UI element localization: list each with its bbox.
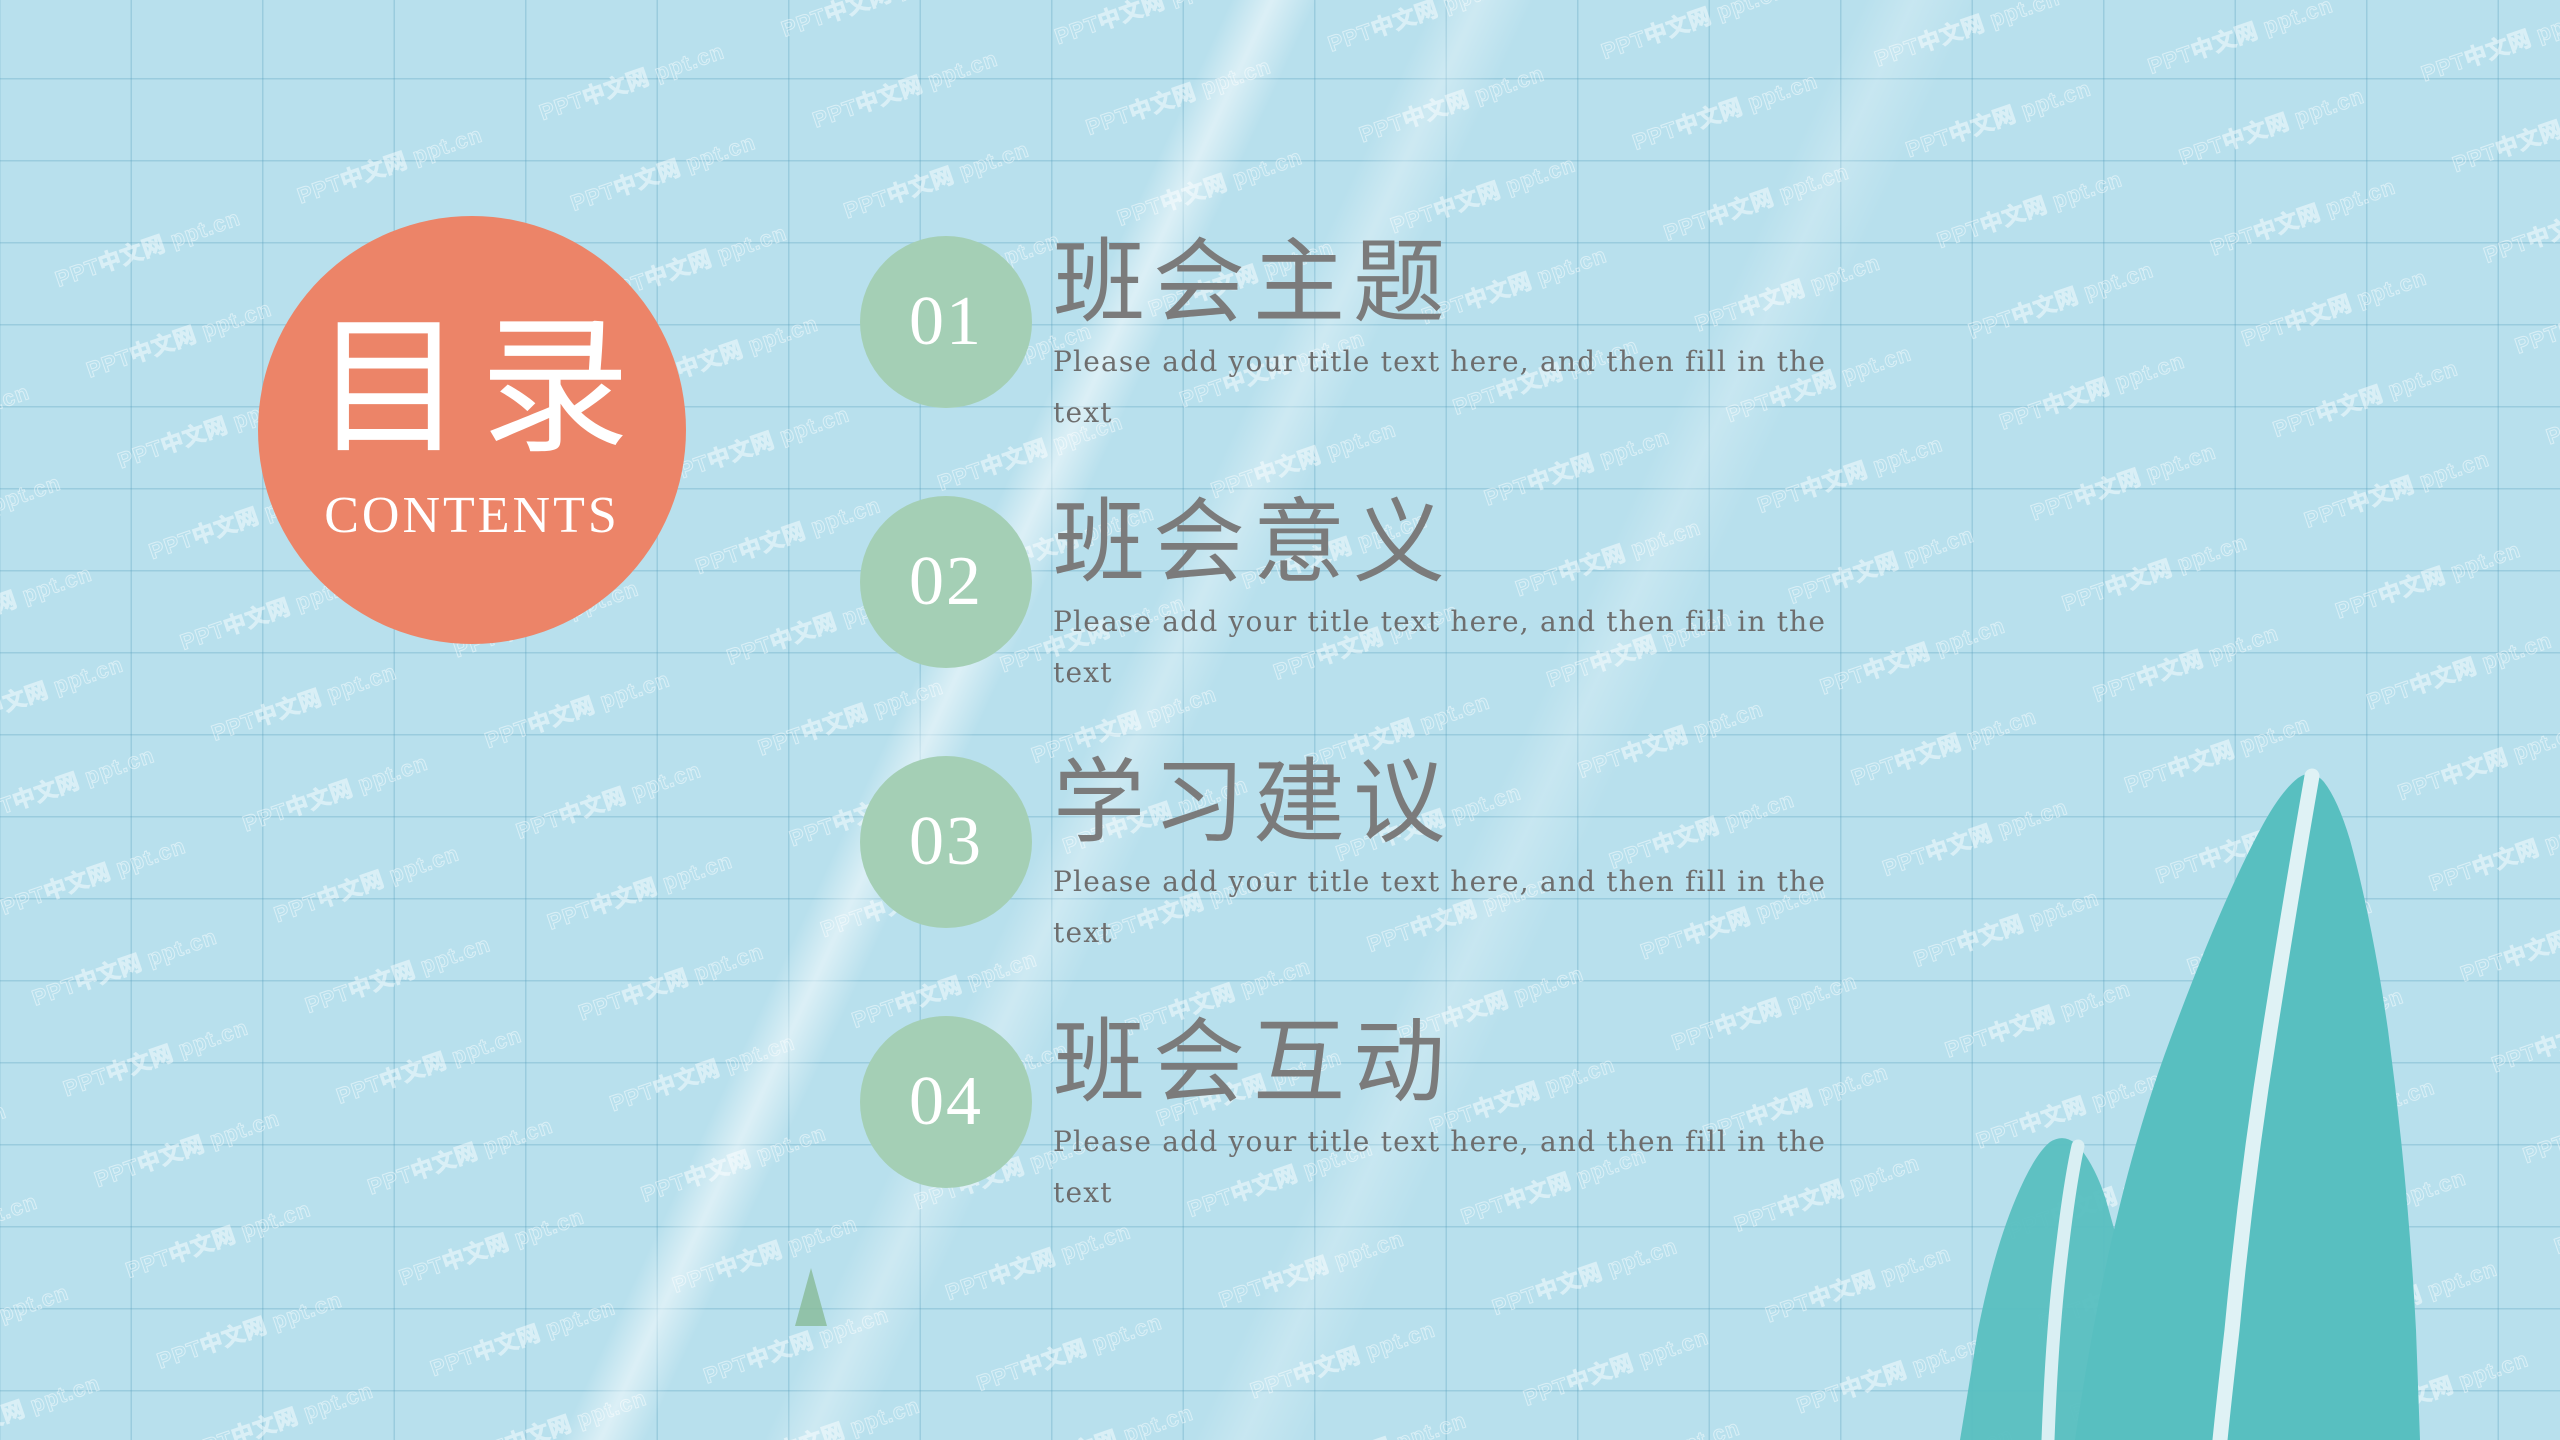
toc-item[interactable]: 02 班会意义 Please add your title text here,…	[860, 492, 1940, 752]
toc-number-bubble: 02	[860, 496, 1032, 668]
toc-title: 班会意义	[1053, 492, 1933, 595]
toc-item[interactable]: 04 班会互动 Please add your title text here,…	[860, 1012, 1940, 1272]
toc-number: 03	[909, 807, 983, 877]
toc-number-bubble: 03	[860, 756, 1032, 928]
pine-tree-icon	[795, 1268, 827, 1326]
toc-description: Please add your title text here, and the…	[1053, 337, 1853, 439]
toc-item[interactable]: 03 学习建议 Please add your title text here,…	[860, 752, 1940, 1012]
slide-canvas: PPT中文网 ppt.cnPPT中文网 ppt.cnPPT中文网 ppt.cnP…	[0, 0, 2560, 1440]
toc-text-block: 学习建议 Please add your title text here, an…	[1053, 752, 1933, 959]
toc-description: Please add your title text here, and the…	[1053, 857, 1853, 959]
contents-title-en: CONTENTS	[324, 490, 620, 542]
toc-title: 班会主题	[1053, 232, 1933, 335]
toc-text-block: 班会互动 Please add your title text here, an…	[1053, 1012, 1933, 1219]
toc-number-bubble: 01	[860, 236, 1032, 408]
table-of-contents: 01 班会主题 Please add your title text here,…	[860, 232, 1940, 1272]
toc-item[interactable]: 01 班会主题 Please add your title text here,…	[860, 232, 1940, 492]
contents-title-cn: 目录	[298, 314, 646, 464]
toc-title: 学习建议	[1053, 752, 1933, 855]
toc-title: 班会互动	[1053, 1012, 1933, 1115]
toc-number: 04	[909, 1067, 983, 1137]
toc-number: 02	[909, 547, 983, 617]
toc-text-block: 班会主题 Please add your title text here, an…	[1053, 232, 1933, 439]
contents-badge: 目录 CONTENTS	[258, 216, 686, 644]
toc-text-block: 班会意义 Please add your title text here, an…	[1053, 492, 1933, 699]
toc-description: Please add your title text here, and the…	[1053, 1117, 1853, 1219]
toc-description: Please add your title text here, and the…	[1053, 597, 1853, 699]
toc-number: 01	[909, 287, 983, 357]
toc-number-bubble: 04	[860, 1016, 1032, 1188]
